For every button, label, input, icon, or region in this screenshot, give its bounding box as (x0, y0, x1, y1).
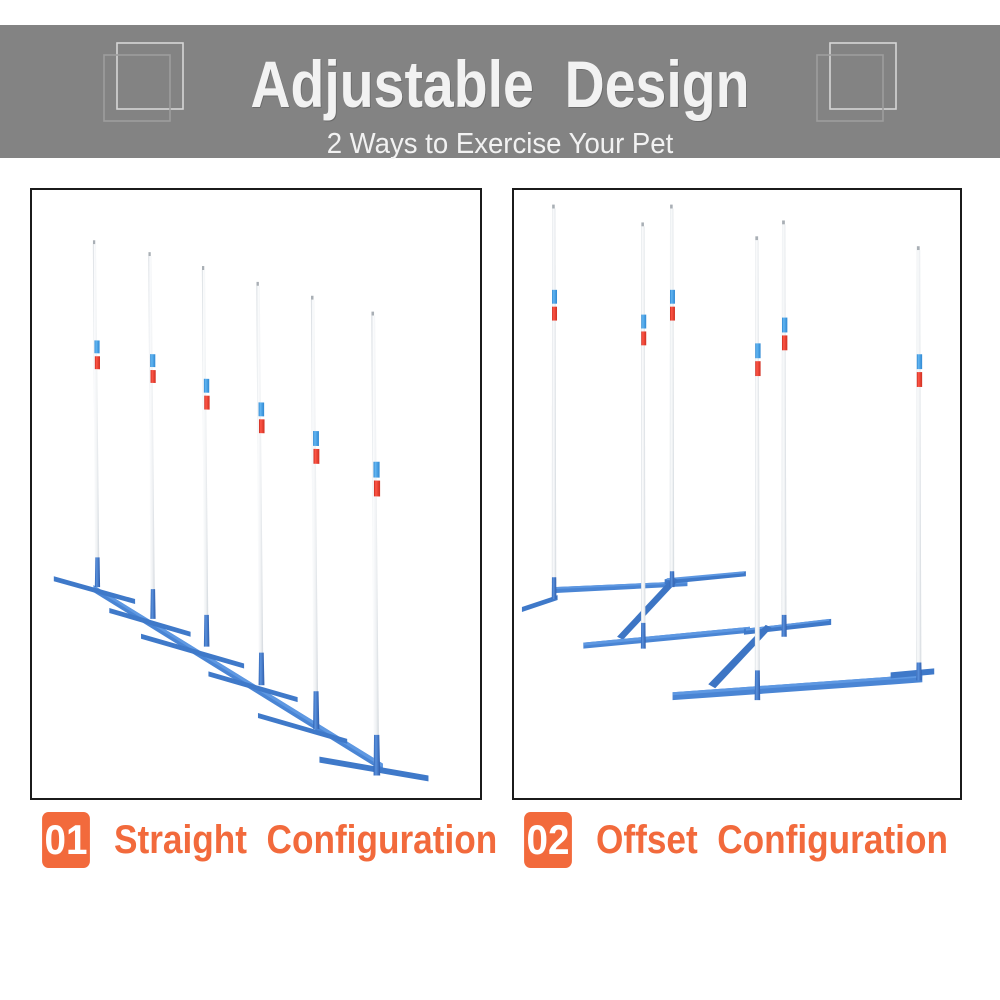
weave-pole (256, 282, 264, 685)
weave-pole (311, 296, 319, 729)
caption-offset: 02 Offset Configuration (522, 812, 996, 868)
header-banner: Adjustable Design 2 Ways to Exercise You… (0, 25, 1000, 158)
weave-pole (916, 246, 922, 680)
weave-pole (670, 205, 675, 588)
page-title: Adjustable Design (80, 51, 920, 117)
weave-pole (93, 240, 100, 587)
panel-straight-configuration (30, 188, 482, 800)
caption-label: Straight Configuration (114, 812, 497, 868)
panel-offset-configuration (512, 188, 962, 800)
weave-pole (148, 252, 155, 619)
base-rail-group (54, 576, 429, 781)
weave-pole (782, 220, 788, 636)
caption-label: Offset Configuration (596, 812, 948, 868)
base-group (583, 571, 750, 648)
weave-poles-straight-illustration (32, 190, 480, 798)
weave-poles-offset-illustration (514, 190, 960, 798)
weave-pole (202, 266, 210, 647)
caption-straight: 01 Straight Configuration (40, 812, 550, 868)
page-subtitle: 2 Ways to Exercise Your Pet (25, 128, 975, 160)
weave-pole (371, 312, 380, 776)
weave-pole (552, 205, 557, 599)
step-number-badge: 01 (42, 812, 90, 868)
step-number-badge: 02 (524, 812, 572, 868)
